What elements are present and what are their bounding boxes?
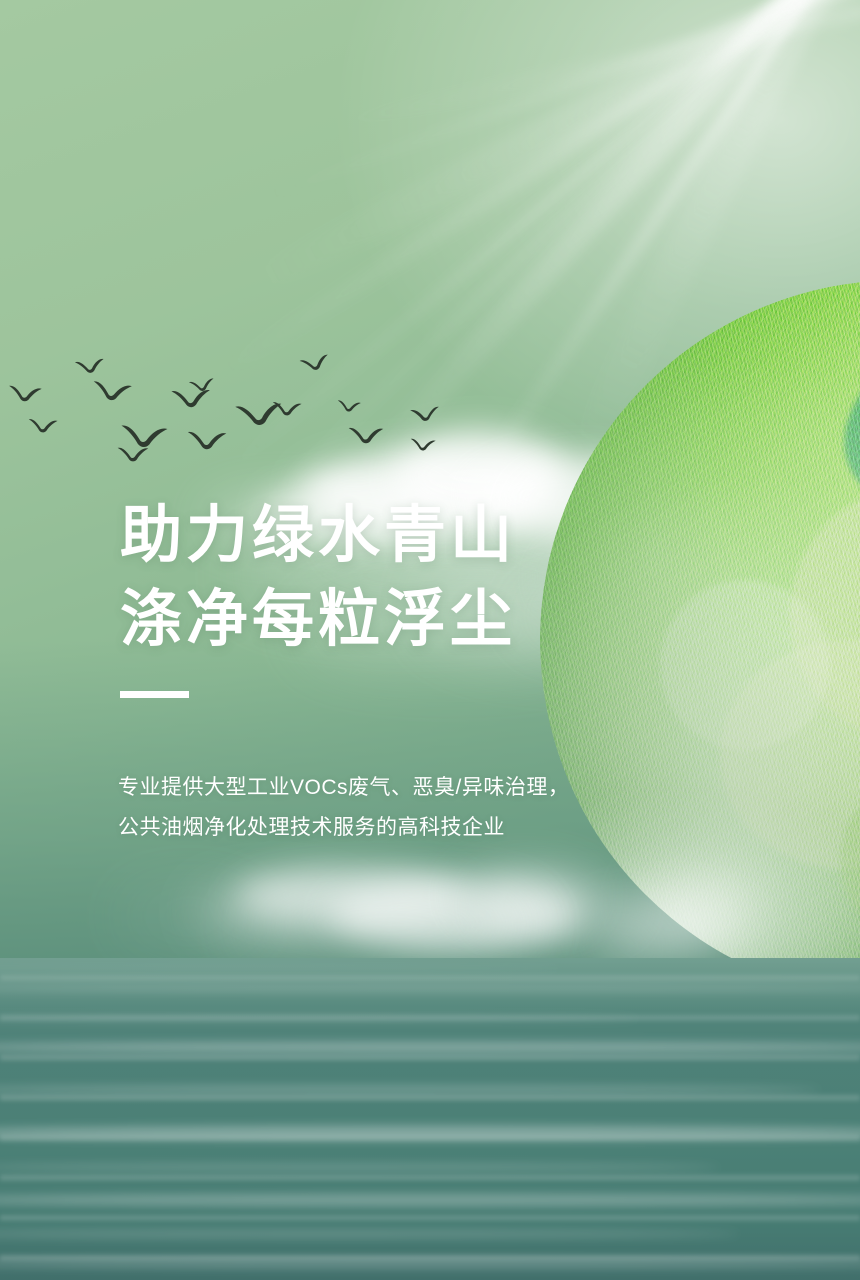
water-wave (0, 1126, 860, 1140)
page-title: 助力绿水青山 涤净每粒浮尘 (120, 494, 516, 662)
water-wave (0, 1164, 720, 1171)
bird-icon (7, 384, 42, 403)
bird-icon (272, 400, 303, 416)
bird-icon (91, 374, 134, 408)
title-divider (120, 691, 189, 698)
water-wave (0, 1258, 860, 1268)
bird-icon (409, 404, 441, 423)
bird-icon (116, 446, 150, 462)
water-wave (0, 1042, 860, 1053)
bird-icon (337, 399, 362, 413)
bird-icon (298, 350, 332, 377)
bird-icon (74, 356, 106, 376)
water-surface (0, 958, 860, 1280)
bird-icon (186, 430, 228, 451)
bird-icon (345, 426, 387, 444)
page-subtitle: 专业提供大型工业VOCs废气、恶臭/异味治理， 公共油烟净化处理技术服务的高科技… (118, 768, 569, 848)
subtitle-line-1: 专业提供大型工业VOCs废气、恶臭/异味治理， (118, 768, 569, 808)
headline-line-1: 助力绿水青山 (120, 494, 516, 578)
water-wave (0, 1194, 860, 1206)
bird-icon (28, 417, 59, 433)
eco-promo-poster: 助力绿水青山 涤净每粒浮尘 专业提供大型工业VOCs废气、恶臭/异味治理， 公共… (0, 0, 860, 1280)
subtitle-line-2: 公共油烟净化处理技术服务的高科技企业 (118, 808, 569, 848)
headline-line-2: 涤净每粒浮尘 (120, 578, 516, 662)
bird-icon (410, 437, 437, 451)
bird-icon (188, 376, 216, 394)
